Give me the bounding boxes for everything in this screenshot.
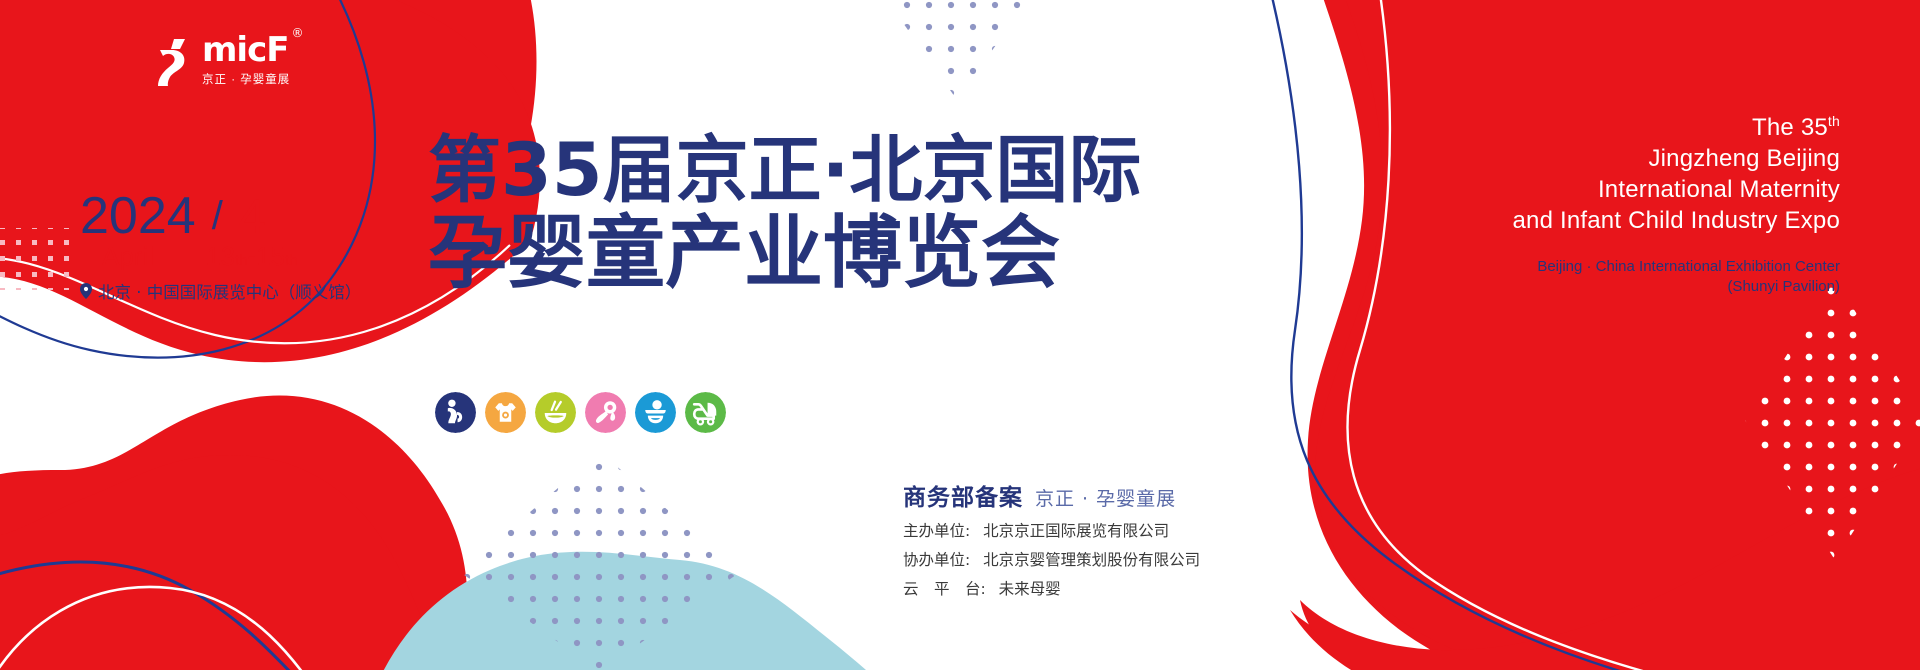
english-line-1: The 35th: [1320, 112, 1840, 144]
registered-mark-icon: ®: [291, 27, 302, 39]
english-venue: Beijing · China International Exhibition…: [1320, 257, 1840, 298]
venue-chinese-text: 北京 · 中国国际展览中心（顺义馆）: [98, 279, 361, 303]
date-venue-block: 2024 / 4 April 13th-15th 北京 · 中国国际展览中心（顺…: [80, 185, 410, 303]
organizer-heading: 商务部备案 京正 · 孕婴童展: [903, 478, 1200, 512]
venue-chinese: 北京 · 中国国际展览中心（顺义馆）: [80, 279, 410, 303]
title-line-2: 孕婴童产业博览会: [428, 209, 1141, 297]
organizer-block: 商务部备案 京正 · 孕婴童展 主办单位: 北京京正国际展览有限公司 协办单位:…: [903, 478, 1200, 599]
pacifier-icon[interactable]: [585, 392, 626, 433]
pregnant-mother-icon[interactable]: [435, 392, 476, 433]
english-line-2: Jingzheng Beijing: [1320, 144, 1840, 175]
micf-logo[interactable]: micF ® 京正 · 孕婴童展: [150, 33, 290, 87]
organizer-label: 主办单位:: [903, 522, 970, 540]
organizer-value: 北京京正国际展览有限公司: [983, 522, 1169, 540]
logo-text: micF: [202, 30, 288, 70]
title-line-1: 第35届京正·北京国际: [428, 132, 1141, 209]
micf-wordmark: micF ® 京正 · 孕婴童展: [202, 33, 290, 87]
english-venue-line-1: Beijing · China International Exhibition…: [1320, 257, 1840, 277]
baby-clothing-icon[interactable]: [485, 392, 526, 433]
organizer-label: 协办单位:: [903, 551, 970, 569]
baby-face-icon[interactable]: [635, 392, 676, 433]
year-value: 2024: [80, 192, 196, 241]
organizer-value: 未来母婴: [999, 580, 1061, 598]
english-title-block: The 35th Jingzheng Beijing International…: [1320, 112, 1840, 297]
logo-subtitle: 京正 · 孕婴童展: [202, 71, 290, 87]
baby-food-bowl-icon[interactable]: [535, 392, 576, 433]
organizer-value: 北京京婴管理策划股份有限公司: [983, 551, 1200, 569]
month-number: 4: [239, 195, 266, 241]
stroller-icon[interactable]: [685, 392, 726, 433]
date-separator: /: [212, 194, 223, 239]
category-icon-row: [435, 392, 726, 433]
organizer-row: 云 平 台: 未来母婴: [903, 577, 1200, 599]
date-primary-row: 2024 / 4: [80, 185, 410, 241]
organizer-label: 云 平 台:: [903, 580, 986, 598]
dot-grid-left: [0, 228, 70, 290]
micf-mother-child-mark-icon: [150, 37, 196, 87]
expo-banner: micF ® 京正 · 孕婴童展 2024 / 4 April 13th-15t…: [0, 0, 1920, 670]
date-secondary-row: April 13th-15th: [80, 243, 410, 269]
organizer-row: 协办单位: 北京京婴管理策划股份有限公司: [903, 548, 1200, 570]
day-range: 13th-15th: [206, 243, 298, 269]
english-venue-line-2: (Shunyi Pavilion): [1320, 277, 1840, 297]
organizer-brand: 京正 · 孕婴童展: [1035, 484, 1176, 511]
english-line-3: International Maternity: [1320, 175, 1840, 206]
location-pin-icon: [80, 283, 92, 299]
page-title: 第35届京正·北京国际 孕婴童产业博览会: [428, 132, 1141, 298]
month-name: April: [102, 243, 154, 269]
organizer-title: 商务部备案: [903, 478, 1023, 512]
english-line-4: and Infant Child Industry Expo: [1320, 206, 1840, 237]
dot-triangle-top: [860, 0, 1060, 120]
organizer-row: 主办单位: 北京京正国际展览有限公司: [903, 519, 1200, 541]
